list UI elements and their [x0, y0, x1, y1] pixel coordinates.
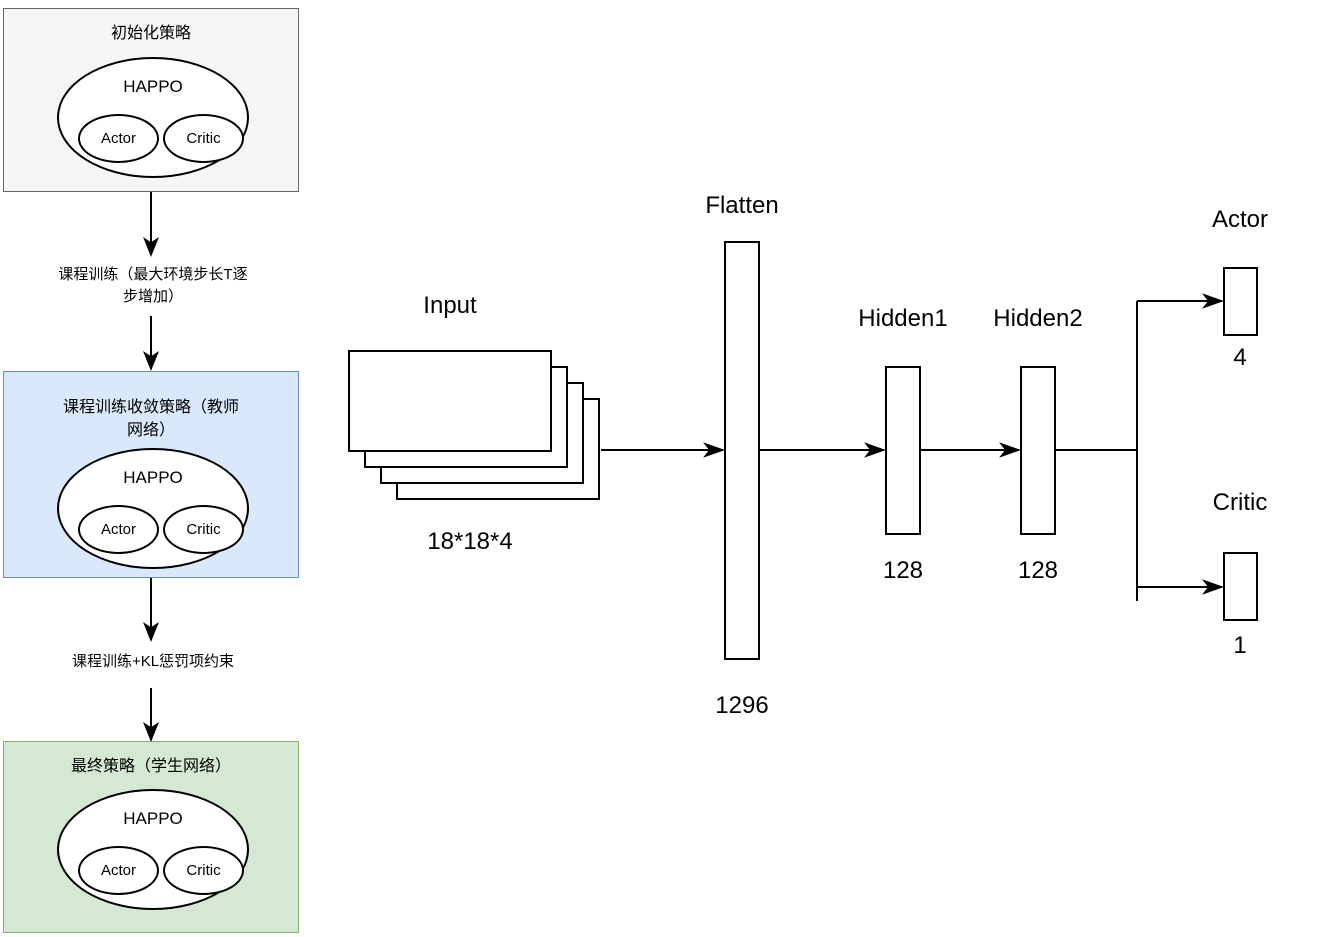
layer-hidden2-value: 128 — [928, 557, 1148, 585]
stage-student-policy-actor-ellipse: Actor — [78, 846, 159, 895]
layer-hidden2-label: Hidden2 — [928, 305, 1148, 333]
layer-actor-label: Actor — [1130, 206, 1333, 234]
layer-actor-bar — [1223, 267, 1258, 336]
transition-1-label: 课程训练（最大环境步长T逐 步增加） — [8, 264, 298, 308]
transition-2-label: 课程训练+KL惩罚项约束 — [8, 651, 298, 673]
layer-flatten-value: 1296 — [632, 692, 852, 720]
stage-student-policy-critic-ellipse: Critic — [163, 846, 244, 895]
stage-init-policy-actor-ellipse: Actor — [78, 114, 159, 163]
layer-input-value: 18*18*4 — [360, 528, 580, 556]
layer-flatten-bar — [724, 241, 760, 660]
diagram-canvas: 初始化策略 HAPPO Actor Critic 课程训练（最大环境步长T逐 步… — [0, 0, 1333, 937]
stage-student-policy-happo-label: HAPPO — [57, 809, 249, 829]
layer-critic-value: 1 — [1130, 632, 1333, 660]
layer-actor-value: 4 — [1130, 344, 1333, 372]
stage-student-policy-title: 最终策略（学生网络） — [3, 755, 299, 778]
layer-hidden2-bar — [1020, 366, 1056, 535]
stage-teacher-policy-critic-ellipse: Critic — [163, 505, 244, 554]
stage-teacher-policy-title: 课程训练收敛策略（教师 网络） — [13, 396, 289, 442]
layer-hidden1-bar — [885, 366, 921, 535]
layer-critic-bar — [1223, 552, 1258, 621]
stage-teacher-policy-happo-label: HAPPO — [57, 468, 249, 488]
stage-init-policy-critic-ellipse: Critic — [163, 114, 244, 163]
stage-init-policy-title: 初始化策略 — [3, 22, 299, 45]
input-stack-plane-1 — [348, 350, 552, 452]
layer-critic-label: Critic — [1130, 489, 1333, 517]
layer-input-label: Input — [340, 292, 560, 320]
stage-init-policy-happo-label: HAPPO — [57, 77, 249, 97]
stage-teacher-policy-actor-ellipse: Actor — [78, 505, 159, 554]
connector-hidden2-to-split — [1056, 301, 1137, 601]
layer-flatten-label: Flatten — [632, 192, 852, 220]
